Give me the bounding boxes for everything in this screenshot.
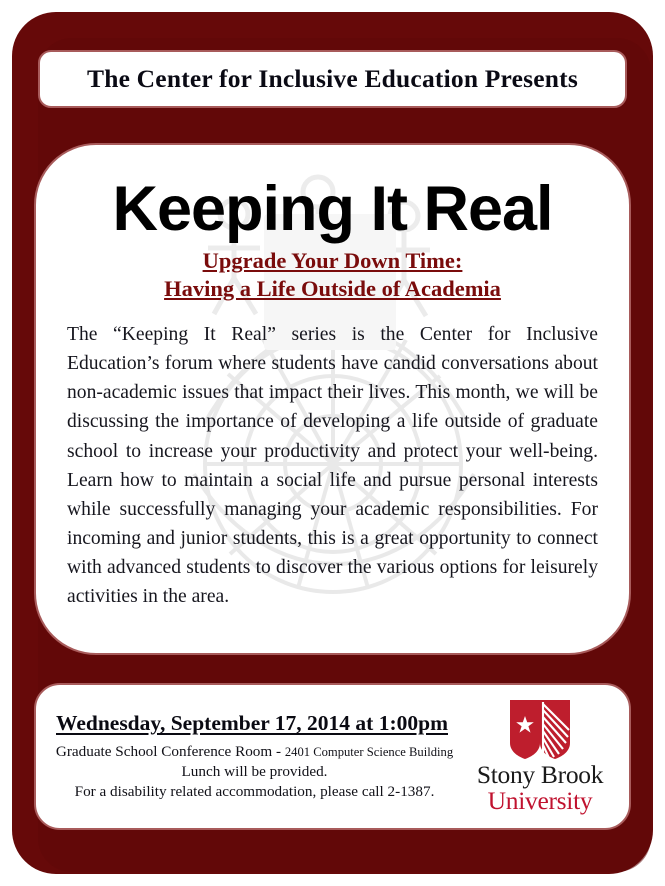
event-lunch-note: Lunch will be provided. [52, 762, 457, 782]
event-location-line: Graduate School Conference Room - 2401 C… [52, 742, 457, 762]
presenter-title: The Center for Inclusive Education Prese… [87, 64, 578, 94]
poster-subtitle: Upgrade Your Down Time: Having a Life Ou… [62, 247, 603, 302]
event-logistics: Graduate School Conference Room - 2401 C… [52, 742, 457, 802]
poster-description: The “Keeping It Real” series is the Cent… [67, 320, 598, 611]
stony-brook-logo: Stony Brook University [461, 699, 629, 815]
main-content: Keeping It Real Upgrade Your Down Time: … [36, 145, 629, 611]
subtitle-line-1: Upgrade Your Down Time: [203, 248, 463, 273]
header-panel: The Center for Inclusive Education Prese… [38, 50, 627, 108]
footer-details: Wednesday, September 17, 2014 at 1:00pm … [36, 711, 461, 802]
subtitle-line-2: Having a Life Outside of Academia [164, 276, 501, 301]
stony-brook-university-word: University [461, 788, 619, 815]
stony-brook-shield-icon [507, 699, 573, 761]
stony-brook-name: Stony Brook [461, 762, 619, 788]
poster-canvas: The Center for Inclusive Education Prese… [0, 0, 665, 886]
event-location-main: Graduate School Conference Room - [56, 743, 285, 760]
event-datetime: Wednesday, September 17, 2014 at 1:00pm [56, 711, 457, 736]
main-panel: Keeping It Real Upgrade Your Down Time: … [34, 143, 631, 655]
event-accommodation-note: For a disability related accommodation, … [52, 782, 457, 802]
poster-title: Keeping It Real [62, 177, 603, 241]
event-location-detail: 2401 Computer Science Building [285, 745, 453, 759]
footer-panel: Wednesday, September 17, 2014 at 1:00pm … [34, 683, 631, 830]
